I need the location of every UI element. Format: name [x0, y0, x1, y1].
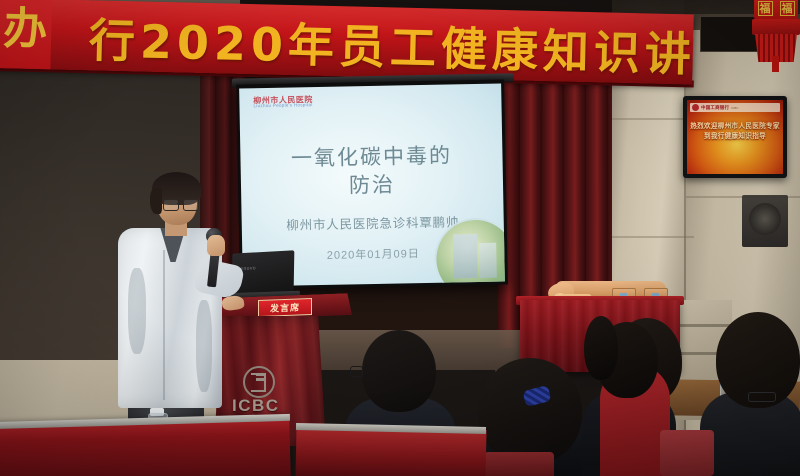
podium-sign-text: 发言席: [270, 300, 300, 314]
tv-welcome-message: 热烈欢迎柳州市人民医院专家 到我行健康知识指导: [687, 122, 783, 142]
tv-bank-name: 中国工商银行: [701, 105, 729, 111]
audience-chair: [660, 430, 714, 476]
front-desk-right: [295, 426, 486, 476]
lecture-scene-photo: 办 行2020年员工健康知识讲座 福 福 柳州市人民医院 Liuzhou Peo…: [0, 0, 800, 476]
speaker-hair-side: [150, 188, 162, 214]
tv-message-line2: 到我行健康知识指导: [687, 132, 783, 142]
speaker-glasses-icon: [163, 199, 199, 209]
coat-fold: [196, 300, 212, 392]
audience-chair: [484, 452, 554, 476]
tv-bank-header: 中国工商银行 ICBC: [690, 103, 780, 112]
lantern-drop: [772, 56, 779, 72]
glasses-lens-right: [183, 199, 199, 211]
tv-bank-name-en: ICBC: [731, 106, 738, 110]
banner-left-glyph: 办: [3, 0, 48, 57]
audio-speaker: [742, 195, 788, 247]
glasses-lens-left: [163, 199, 179, 211]
coat-seam: [163, 250, 165, 400]
icbc-emblem-icon: [243, 366, 275, 398]
fu-character-right: 福: [780, 1, 795, 16]
stone-joint: [612, 118, 694, 120]
fu-character-left: 福: [758, 1, 773, 16]
wall-mounted-tv: 中国工商银行 ICBC 热烈欢迎柳州市人民医院专家 到我行健康知识指导: [683, 96, 787, 178]
stone-joint: [612, 236, 694, 238]
audience-glasses-icon: [748, 392, 776, 402]
audience-head: [478, 358, 582, 464]
speaker-hand-holding-mic: [207, 235, 225, 256]
podium-sign: 发言席: [258, 298, 312, 317]
audience-head: [362, 330, 436, 412]
hospital-logo: 柳州市人民医院 Liuzhou People's Hospital: [253, 95, 313, 109]
hospital-logo-en: Liuzhou People's Hospital: [253, 104, 313, 110]
red-lantern-decoration: 福 福: [752, 0, 800, 62]
audience-head: [584, 316, 618, 380]
lantern-top: 福 福: [754, 0, 798, 20]
icbc-brand-text: ICBC: [232, 396, 280, 416]
icbc-logo-icon: [692, 104, 699, 111]
tv-screen: 中国工商银行 ICBC 热烈欢迎柳州市人民医院专家 到我行健康知识指导: [687, 100, 783, 174]
banner-left-badge: 办: [0, 0, 52, 69]
tv-message-line1: 热烈欢迎柳州市人民医院专家: [687, 122, 783, 132]
audience-glasses-icon: [350, 366, 363, 377]
slide-title: 一氧化碳中毒的 防治: [240, 141, 503, 201]
slide-title-line2: 防治: [241, 169, 503, 202]
coat-fold: [128, 268, 146, 354]
lantern-middle: [752, 19, 800, 35]
